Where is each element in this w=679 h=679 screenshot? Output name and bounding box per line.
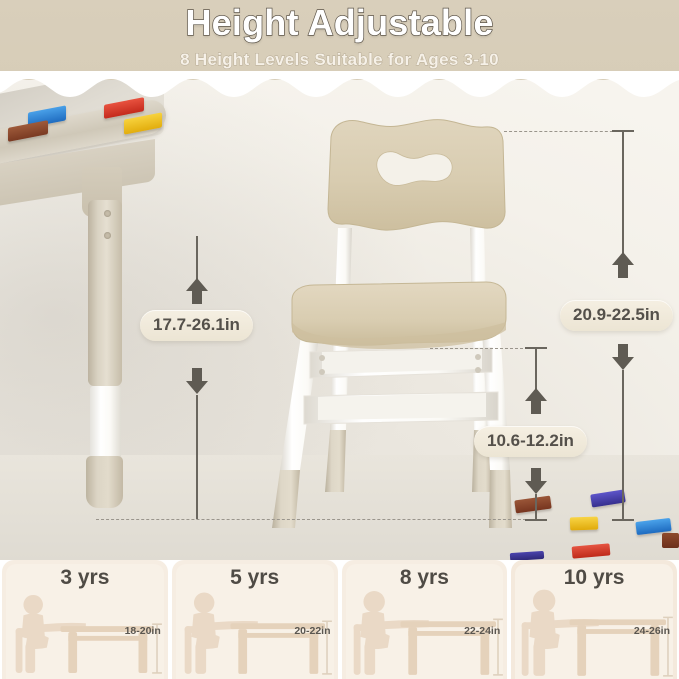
header-banner: Height Adjustable 8 Height Levels Suitab…: [0, 0, 679, 80]
measure-cap-bottom: [525, 519, 547, 521]
measure-line-bottom: [196, 395, 198, 519]
age-label: 10 yrs: [511, 566, 677, 590]
block-brick-floor: [662, 533, 679, 548]
seat-height-label: 10.6-12.2in: [474, 426, 587, 457]
age-guide-row: 3 yrs: [0, 560, 679, 679]
age-card-5yrs[interactable]: 5 yrs: [172, 560, 338, 679]
measure-line-bottom: [535, 494, 537, 520]
table-height-range: 20-22in: [294, 625, 330, 637]
arrow-down-icon: [184, 366, 210, 396]
age-label: 3 yrs: [2, 566, 168, 590]
baseline-dashed-guide: [96, 519, 526, 520]
age-label: 8 yrs: [342, 566, 508, 590]
age-label: 5 yrs: [172, 566, 338, 590]
table-height-range: 18-20in: [125, 625, 161, 637]
block-yellow-floor: [570, 517, 598, 531]
age-card-3yrs[interactable]: 3 yrs: [2, 560, 168, 679]
arrow-down-icon: [610, 342, 636, 372]
chair-seat: [292, 282, 506, 349]
chair-top-dashed-guide: [504, 131, 628, 132]
measure-line-top: [622, 131, 624, 253]
page-title: Height Adjustable: [0, 2, 679, 44]
table-height-range: 24-26in: [634, 625, 670, 637]
scallop-border: [0, 71, 679, 97]
chair-height-label: 20.9-22.5in: [560, 300, 673, 331]
arrow-up-icon: [610, 250, 636, 280]
arrow-down-icon: [523, 466, 549, 496]
measure-line-top: [196, 236, 198, 280]
page-subtitle: 8 Height Levels Suitable for Ages 3-10: [0, 50, 679, 70]
measure-line-bottom: [622, 370, 624, 520]
measure-cap-bottom: [612, 519, 634, 521]
seat-dashed-guide: [430, 348, 538, 349]
table-height-range: 22-24in: [464, 625, 500, 637]
age-card-8yrs[interactable]: 8 yrs: [342, 560, 508, 679]
infographic-canvas: 17.7-26.1in 20.9-22.5in: [0, 0, 679, 679]
measure-line-top: [535, 348, 537, 390]
arrow-up-icon: [184, 276, 210, 306]
table-height-label: 17.7-26.1in: [140, 310, 253, 341]
age-card-10yrs[interactable]: 10 yrs: [511, 560, 677, 679]
arrow-up-icon: [523, 386, 549, 416]
chair-backrest: [328, 120, 505, 230]
